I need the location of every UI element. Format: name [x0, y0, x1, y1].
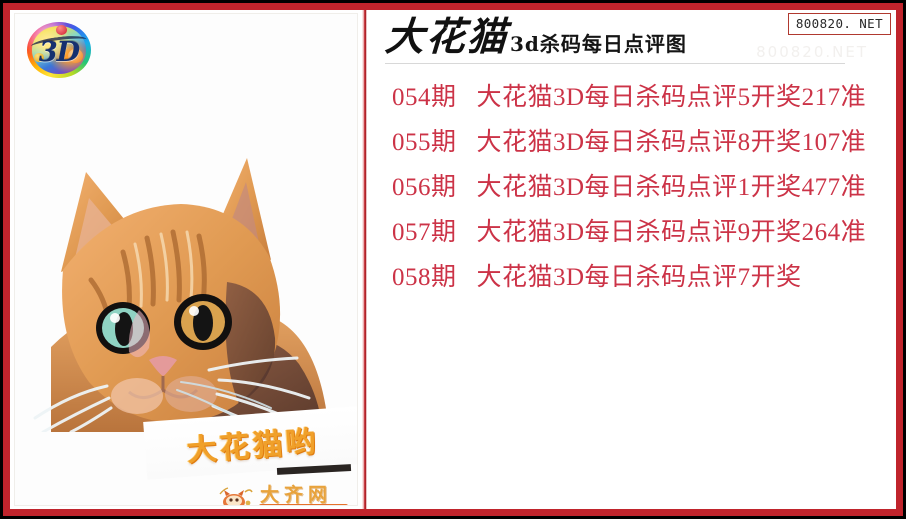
list-item: 058期 大花猫3D每日杀码点评7开奖 — [368, 252, 896, 297]
issue-number: 057期 — [392, 212, 457, 248]
cat-illustration-svg — [31, 132, 341, 432]
forecast-list: 054期 大花猫3D每日杀码点评5开奖217准 055期 大花猫3D每日杀码点评… — [368, 72, 896, 297]
left-image-panel: 3D — [10, 10, 362, 509]
watermark-mascot-icon — [218, 483, 254, 506]
issue-description: 大花猫3D每日杀码点评1开奖477准 — [477, 167, 867, 203]
poster-frame: 3D — [0, 0, 906, 519]
title-underline — [385, 63, 845, 64]
issue-description: 大花猫3D每日杀码点评9开奖264准 — [477, 212, 867, 248]
issue-description: 大花猫3D每日杀码点评8开奖107准 — [477, 122, 867, 158]
issue-description: 大花猫3D每日杀码点评7开奖 — [477, 257, 802, 293]
watermark-site-name: 大齐网 — [260, 480, 332, 506]
poster-inner: 3D — [3, 3, 903, 516]
list-item: 056期 大花猫3D每日杀码点评1开奖477准 — [368, 162, 896, 207]
issue-number: 058期 — [392, 257, 457, 293]
list-item: 054期 大花猫3D每日杀码点评5开奖217准 — [368, 72, 896, 117]
page-title: 大花猫 3d杀码每日点评图 — [385, 18, 687, 57]
domain-badge: 800820. NET — [788, 13, 891, 35]
lottery-3d-ball-icon: 3D — [27, 22, 91, 78]
page-title-sub: 3d杀码每日点评图 — [510, 34, 687, 57]
watermark-mascot-svg — [218, 483, 254, 506]
cat-caption-text: 大花猫哟 — [185, 416, 320, 470]
site-watermark: 大齐网 800820.NET — [218, 480, 358, 506]
page-title-main: 大花猫 — [384, 18, 509, 57]
list-item: 057期 大花猫3D每日杀码点评9开奖264准 — [368, 207, 896, 252]
issue-number: 054期 — [392, 77, 457, 113]
right-content-panel: 800820. NET 大花猫 3d杀码每日点评图 800820.NET 054… — [368, 10, 896, 509]
list-item: 055期 大花猫3D每日杀码点评8开奖107准 — [368, 117, 896, 162]
faint-watermark-text: 800820.NET — [756, 43, 868, 61]
cat-illustration — [31, 132, 341, 432]
watermark-site-url: 800820.NET — [259, 504, 348, 506]
issue-number: 055期 — [392, 122, 457, 158]
issue-number: 056期 — [392, 167, 457, 203]
logo-3d-label: 3D — [27, 22, 91, 78]
left-image-card: 3D — [14, 13, 358, 506]
issue-description: 大花猫3D每日杀码点评5开奖217准 — [477, 77, 867, 113]
